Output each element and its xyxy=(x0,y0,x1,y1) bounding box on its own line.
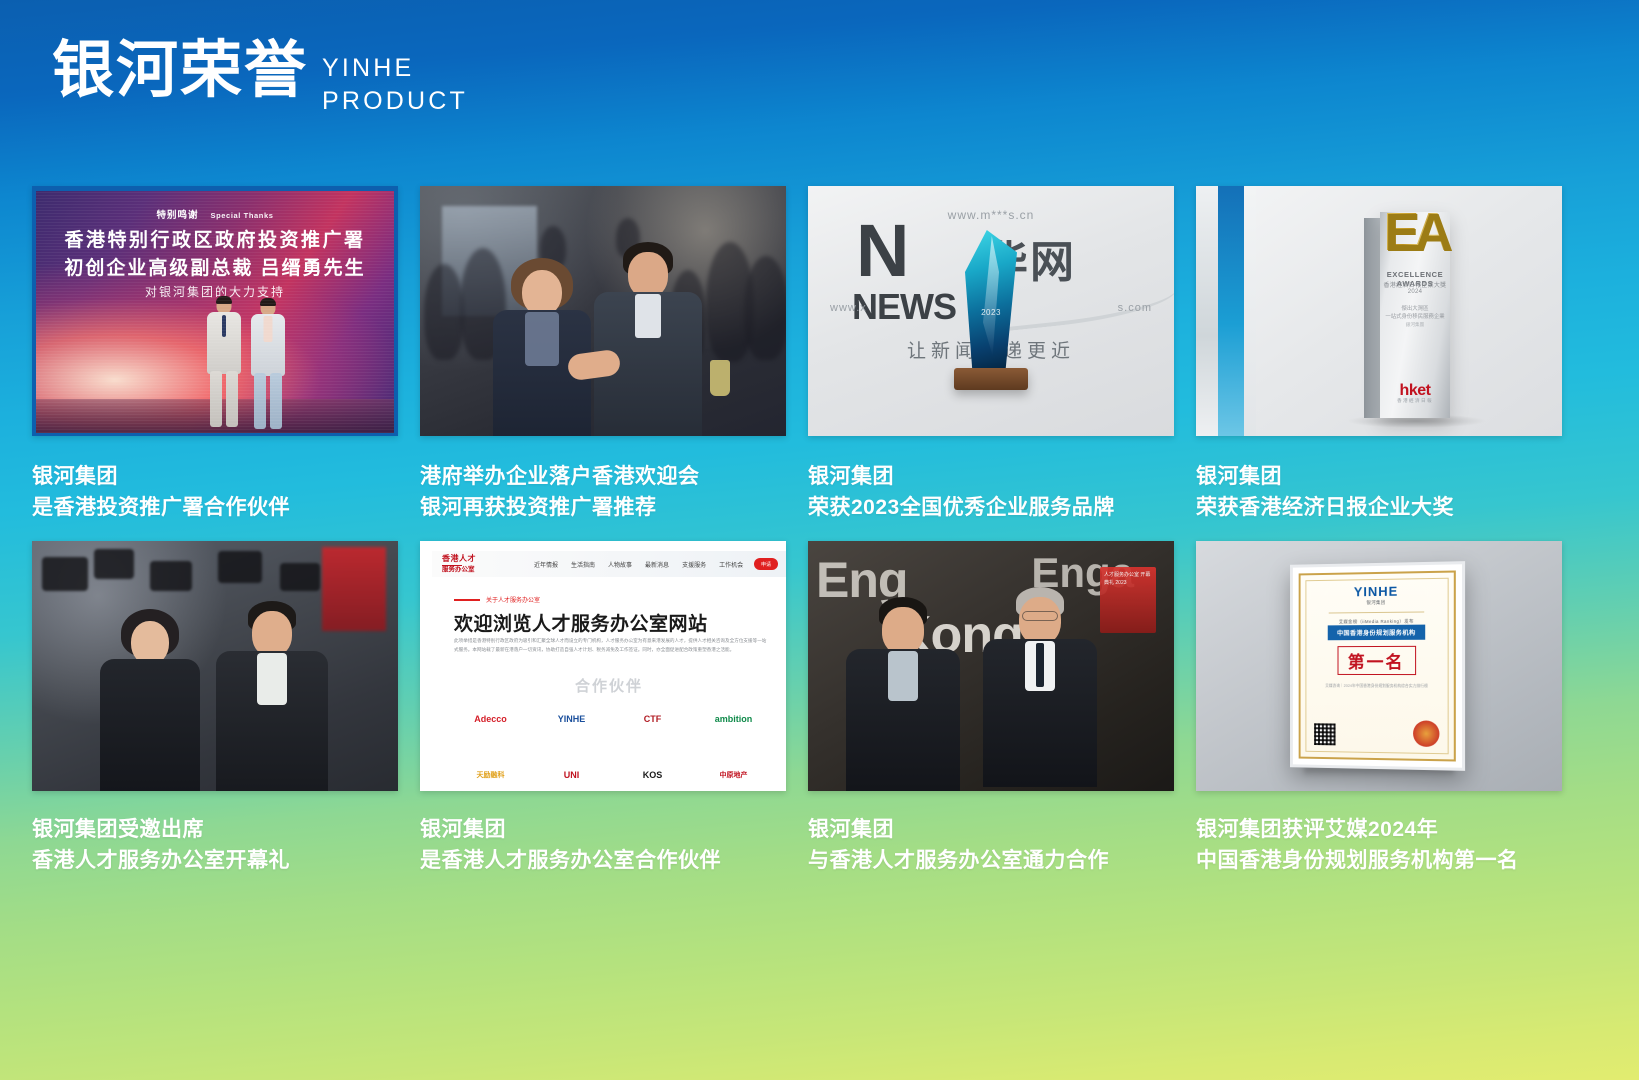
poster-page: 银河荣誉 YINHE PRODUCT 特别鸣谢Special Thanks 香港… xyxy=(0,0,1639,1080)
camera-icon xyxy=(42,557,88,591)
honor-caption-5: 银河集团受邀出席 香港人才服务办公室开幕礼 xyxy=(32,815,398,876)
honor-card-1[interactable]: 特别鸣谢Special Thanks 香港特别行政区政府投资推广署 初创企业高级… xyxy=(32,186,398,523)
honor-caption-1: 银河集团 是香港投资推广署合作伙伴 xyxy=(32,462,398,523)
honor-caption-7: 银河集团 与香港人才服务办公室通力合作 xyxy=(808,815,1174,876)
nav-item-2[interactable]: 人物故事 xyxy=(608,560,632,569)
person-face xyxy=(882,607,924,655)
nav-item-4[interactable]: 支援服务 xyxy=(682,560,706,569)
honor-card-2[interactable]: 港府举办企业落户香港欢迎会 银河再获投资推广署推荐 xyxy=(420,186,786,523)
person-woman xyxy=(488,258,596,436)
trophy-award-line3: 銀河集團 xyxy=(1380,322,1450,328)
partner-logo-ambition: ambition xyxy=(693,707,774,733)
framed-certificate-photo[interactable]: YINHE 银河集团 艾媒金榜（iiMedia Ranking）发布 中国香港身… xyxy=(1196,541,1562,791)
person-shirt xyxy=(257,653,287,705)
trophy-award-line2: 一站式身份移民服務企業 xyxy=(1380,312,1450,320)
honor-card-4[interactable]: EA EXCELLENCE AWARDS 香港經濟日報企業大獎2024 傑出大灣… xyxy=(1196,186,1562,523)
kicker-rule xyxy=(454,599,480,601)
person-woman xyxy=(94,609,206,791)
honor-card-6[interactable]: 香港人才 服务办公室 近年情报 生活指南 人物故事 最新消息 支援服务 工作机会 xyxy=(420,541,786,876)
talent-office-logo: 香港人才 服务办公室 xyxy=(442,555,476,574)
person-man xyxy=(210,599,334,791)
website-nav-items[interactable]: 近年情报 生活指南 人物故事 最新消息 支援服务 工作机会 xyxy=(534,560,743,569)
event-poster-text: 人才服务办公室 开幕典礼 2023 xyxy=(1100,567,1156,592)
trophy-wood-base xyxy=(954,368,1028,390)
honor-caption-6: 银河集团 是香港人才服务办公室合作伙伴 xyxy=(420,815,786,876)
certificate-body: 艾媒咨询｜2024年中国香港身份规划服务机构综合实力排行榜 xyxy=(1315,683,1438,691)
caption-line-2: 荣获香港经济日报企业大奖 xyxy=(1196,493,1562,524)
person-shirt xyxy=(635,294,661,338)
opening-ceremony-press-photo[interactable] xyxy=(32,541,398,791)
award-seal-icon xyxy=(1413,721,1439,748)
caption-line-2: 是香港投资推广署合作伙伴 xyxy=(32,493,398,524)
caption-line-1: 银河集团 xyxy=(808,462,1174,493)
logo-line-1: 香港人才 xyxy=(442,555,476,563)
event-poster: 人才服务办公室 开幕典礼 2023 xyxy=(1100,567,1156,633)
drink-glass xyxy=(710,360,730,396)
website-heading: 欢迎浏览人才服务办公室网站 xyxy=(454,609,708,636)
person-scarf xyxy=(525,312,559,366)
person-man xyxy=(588,240,708,436)
left-stripe-gray xyxy=(1244,186,1256,436)
caption-line-2: 是香港人才服务办公室合作伙伴 xyxy=(420,846,786,877)
person-tie xyxy=(1036,643,1044,687)
nav-item-0[interactable]: 近年情报 xyxy=(534,560,558,569)
page-header: 银河荣誉 YINHE PRODUCT xyxy=(52,38,468,117)
trophy-year: 2023 xyxy=(981,308,1001,317)
partner-logo-centaline: 中原地产 xyxy=(693,763,774,789)
glasses-icon xyxy=(1022,611,1058,621)
trophy-monogram: EA xyxy=(1384,198,1446,266)
honor-caption-2: 港府举办企业落户香港欢迎会 银河再获投资推广署推荐 xyxy=(420,462,786,523)
left-stripe-blue xyxy=(1218,186,1244,436)
certificate-rank: 第一名 xyxy=(1348,648,1405,673)
website-kicker: 关于人才服务办公室 xyxy=(486,595,540,604)
caption-line-2: 荣获2023全国优秀企业服务品牌 xyxy=(808,493,1174,524)
partner-logo-grid: Adecco YINHE CTF ambition 天励融科 UNI KOS 中… xyxy=(450,707,774,789)
person-left xyxy=(842,595,964,791)
backdrop-url-bottom: www.x xyxy=(830,302,867,314)
certificate-brand-sub: 银河集团 xyxy=(1366,600,1385,606)
caption-line-1: 银河集团 xyxy=(808,815,1174,846)
honor-card-5[interactable]: 银河集团受邀出席 香港人才服务办公室开幕礼 xyxy=(32,541,398,876)
nav-apply-button[interactable]: 申请 xyxy=(754,558,778,570)
certificate-subtitle: 艾媒金榜（iiMedia Ranking）发布 xyxy=(1339,619,1414,626)
website-page: 香港人才 服务办公室 近年情报 生活指南 人物故事 最新消息 支援服务 工作机会 xyxy=(432,551,786,791)
caption-line-1: 银河集团获评艾媒2024年 xyxy=(1196,815,1562,846)
partner-logo-kos: KOS xyxy=(612,763,693,789)
caption-line-1: 银河集团受邀出席 xyxy=(32,815,398,846)
logo-line-2: 服务办公室 xyxy=(442,567,476,574)
talent-office-website-screenshot[interactable]: 香港人才 服务办公室 近年情报 生活指南 人物故事 最新消息 支援服务 工作机会 xyxy=(420,541,786,791)
certificate-rank-box: 第一名 xyxy=(1337,646,1416,675)
camera-icon xyxy=(150,561,192,591)
partner-logo-yinhe: YINHE xyxy=(531,707,612,733)
person-right xyxy=(972,585,1108,791)
caption-line-2: 中国香港身份规划服务机构第一名 xyxy=(1196,846,1562,877)
led-scanlines xyxy=(36,191,394,433)
backdrop-letter-n: N xyxy=(856,218,907,285)
left-stripe-light xyxy=(1196,186,1218,436)
stage-special-thanks-photo[interactable]: 特别鸣谢Special Thanks 香港特别行政区政府投资推广署 初创企业高级… xyxy=(32,186,398,436)
page-title-en-line2: PRODUCT xyxy=(322,85,468,118)
camera-icon xyxy=(218,551,262,583)
crystal-trophy-news-photo[interactable]: www.m***s.cn N NEWS 华网 www.x s.com 让新闻传递… xyxy=(808,186,1174,436)
honor-caption-4: 银河集团 荣获香港经济日报企业大奖 xyxy=(1196,462,1562,523)
caption-line-1: 银河集团 xyxy=(420,815,786,846)
hket-excellence-award-trophy-photo[interactable]: EA EXCELLENCE AWARDS 香港經濟日報企業大獎2024 傑出大灣… xyxy=(1196,186,1562,436)
trophy-award-line1: 傑出大灣區 xyxy=(1380,304,1450,312)
partner-logo-adecco: Adecco xyxy=(450,707,531,733)
honor-caption-8: 银河集团获评艾媒2024年 中国香港身份规划服务机构第一名 xyxy=(1196,815,1562,876)
nav-item-5[interactable]: 工作机会 xyxy=(719,560,743,569)
partners-heading: 合作伙伴 xyxy=(432,675,786,696)
camera-icon xyxy=(280,563,320,591)
person-face xyxy=(1019,597,1061,645)
partner-logo-uni: UNI xyxy=(531,763,612,789)
caption-line-1: 港府举办企业落户香港欢迎会 xyxy=(420,462,786,493)
honor-card-7[interactable]: Enga Eng Kong 人才服务办公室 开幕典礼 2023 xyxy=(808,541,1174,876)
trophy-award-cn: 香港經濟日報企業大獎2024 xyxy=(1380,280,1450,295)
nav-item-3[interactable]: 最新消息 xyxy=(645,560,669,569)
honor-card-3[interactable]: www.m***s.cn N NEWS 华网 www.x s.com 让新闻传递… xyxy=(808,186,1174,523)
partner-logo-tianli: 天励融科 xyxy=(450,763,531,789)
honor-caption-3: 银河集团 荣获2023全国优秀企业服务品牌 xyxy=(808,462,1174,523)
certificate-frame: YINHE 银河集团 艾媒金榜（iiMedia Ranking）发布 中国香港身… xyxy=(1290,561,1465,771)
page-title: 银河荣誉 xyxy=(52,38,308,103)
backdrop-news-word: NEWS xyxy=(852,286,956,328)
person-body xyxy=(100,659,200,791)
qr-code-icon xyxy=(1314,724,1335,746)
caption-line-1: 银河集团 xyxy=(32,462,398,493)
nav-item-1[interactable]: 生活指南 xyxy=(571,560,595,569)
caption-line-2: 与香港人才服务办公室通力合作 xyxy=(808,846,1174,877)
honor-card-8[interactable]: YINHE 银河集团 艾媒金榜（iiMedia Ranking）发布 中国香港身… xyxy=(1196,541,1562,876)
caption-line-2: 香港人才服务办公室开幕礼 xyxy=(32,846,398,877)
certificate-band: 中国香港身份规划服务机构 xyxy=(1328,625,1425,641)
person-shirt xyxy=(888,651,918,701)
certificate-brand: YINHE xyxy=(1354,584,1398,600)
certificate-divider xyxy=(1329,612,1424,614)
partner-logo-ctf: CTF xyxy=(612,707,693,733)
engage-hongkong-backdrop-photo[interactable]: Enga Eng Kong 人才服务办公室 开幕典礼 2023 xyxy=(808,541,1174,791)
caption-line-1: 银河集团 xyxy=(1196,462,1562,493)
led-wall: 特别鸣谢Special Thanks 香港特别行政区政府投资推广署 初创企业高级… xyxy=(36,191,394,433)
backdrop-url-right: s.com xyxy=(1118,302,1152,314)
camera-icon xyxy=(94,549,134,579)
certificate-inner: YINHE 银河集团 艾媒金榜（iiMedia Ranking）发布 中国香港身… xyxy=(1299,571,1456,762)
page-title-en: YINHE PRODUCT xyxy=(322,52,468,117)
handshake-reception-photo[interactable] xyxy=(420,186,786,436)
honors-grid: 特别鸣谢Special Thanks 香港特别行政区政府投资推广署 初创企业高级… xyxy=(32,186,1562,877)
caption-line-2: 银河再获投资推广署推荐 xyxy=(420,493,786,524)
website-paragraph: 此项举措是香港特别行政区政府为吸引和汇聚全球人才而设立的专门机构，人才服务办公室… xyxy=(454,637,768,654)
trophy-brand-sub: 香港經濟日報 xyxy=(1380,398,1450,404)
website-navbar[interactable]: 香港人才 服务办公室 近年情报 生活指南 人物故事 最新消息 支援服务 工作机会 xyxy=(432,551,786,577)
page-title-en-line1: YINHE xyxy=(322,52,468,85)
